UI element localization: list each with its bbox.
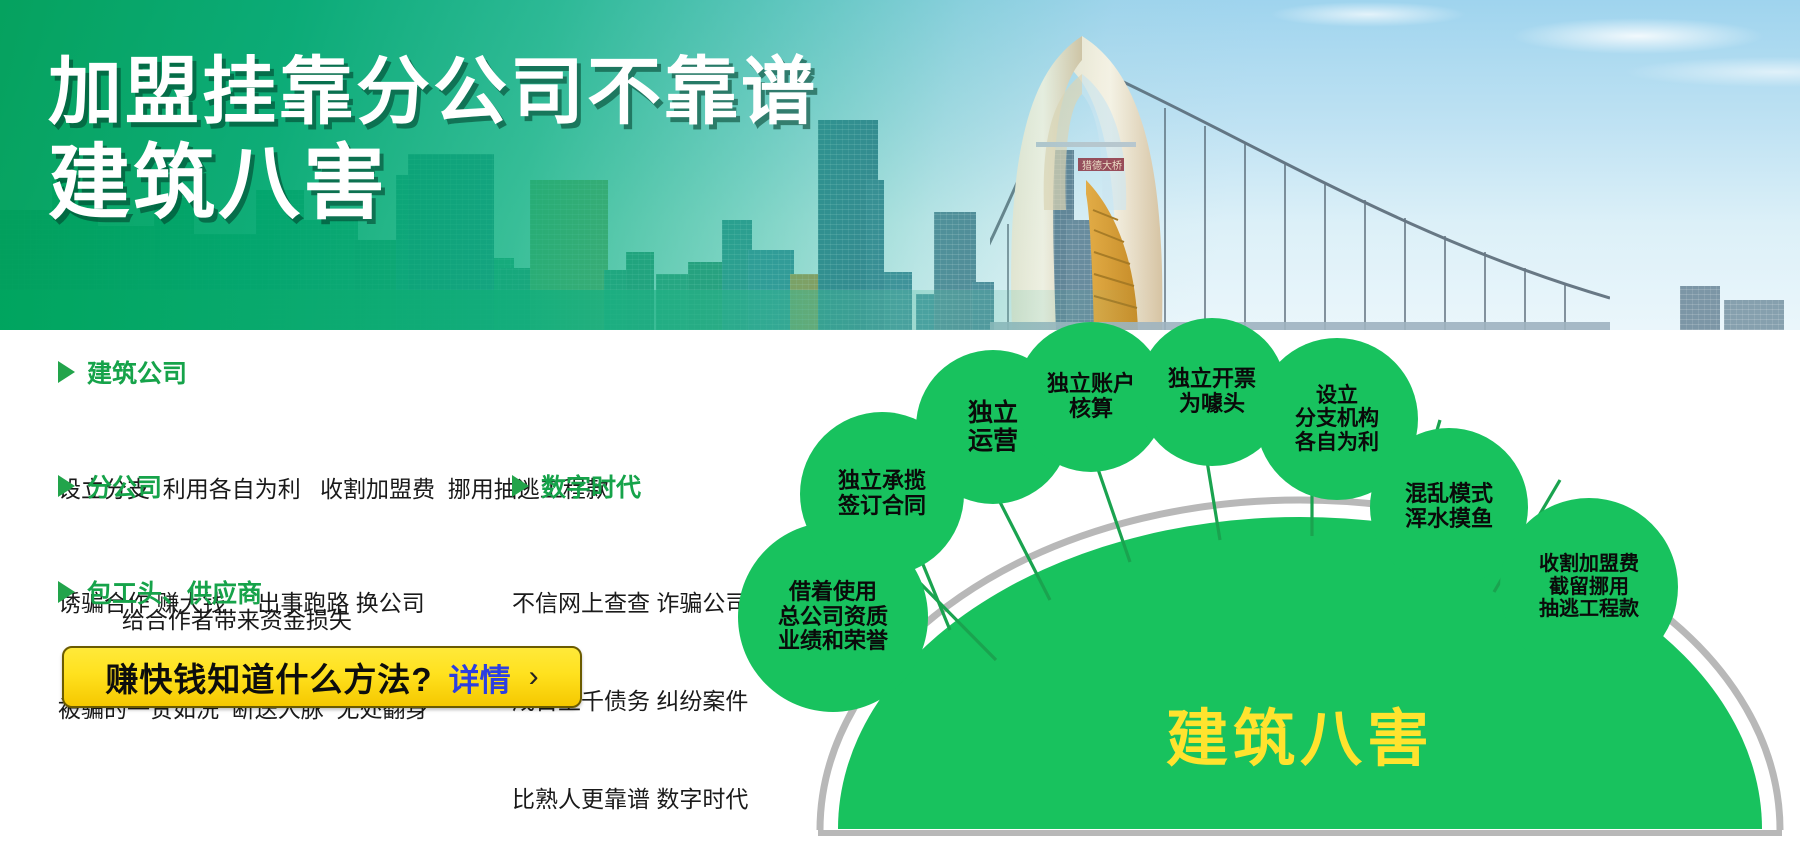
cta-detail-link[interactable]: 详情 <box>449 655 511 700</box>
dome-center-label: 建筑八害 <box>1166 705 1434 774</box>
headline-line-1: 加盟挂靠分公司不靠谱 <box>48 55 818 129</box>
green-ground-overlay <box>0 290 1800 330</box>
cta-button[interactable]: 赚快钱知道什么方法? 详情 › <box>62 646 582 708</box>
section-line-1: 不信网上查查 诈骗公司 <box>512 587 748 620</box>
section-title: 建筑公司 <box>87 354 187 390</box>
cta-label: 赚快钱知道什么方法? <box>105 653 432 701</box>
section-title: 分公司 <box>87 468 162 504</box>
section-line-3: 比熟人更靠谱 数字时代 <box>512 783 748 816</box>
section-title: 数字时代 <box>541 468 641 504</box>
bubble-franchise-fee-harvest[interactable]: 收割加盟费 截留挪用 抽逃工程款 <box>1500 498 1678 676</box>
headline-line-2: 建筑八害 <box>48 143 818 225</box>
section-heading: 分公司 <box>58 468 425 504</box>
section-heading: 建筑公司 <box>58 354 609 390</box>
section-title: 包工头、供应商 <box>87 574 262 610</box>
banner-headline: 加盟挂靠分公司不靠谱 建筑八害 <box>48 55 818 225</box>
hero-banner: 猎德大桥 加盟挂靠分公司不靠谱 建筑八害 <box>0 0 1800 330</box>
left-content: 建筑公司 设立分支 利用各自为利 收割加盟费 挪用抽逃工程款 给合作者带来资金损… <box>0 330 800 844</box>
triangle-bullet-icon <box>58 475 75 497</box>
triangle-bullet-icon <box>58 581 75 603</box>
section-heading: 包工头、供应商 <box>58 574 429 610</box>
chevron-right-icon: › <box>529 660 539 694</box>
triangle-bullet-icon <box>58 361 75 383</box>
eight-harms-diagram: 建筑八害 借着使用 总公司资质 业绩和荣誉 独立承揽 签订合同 独立 运营 独立… <box>800 330 1800 844</box>
section-heading: 数字时代 <box>512 468 748 504</box>
poster-root: 猎德大桥 加盟挂靠分公司不靠谱 建筑八害 建筑公司 设立分支 利用各自为利 收割… <box>0 0 1800 844</box>
triangle-bullet-icon <box>512 475 529 497</box>
